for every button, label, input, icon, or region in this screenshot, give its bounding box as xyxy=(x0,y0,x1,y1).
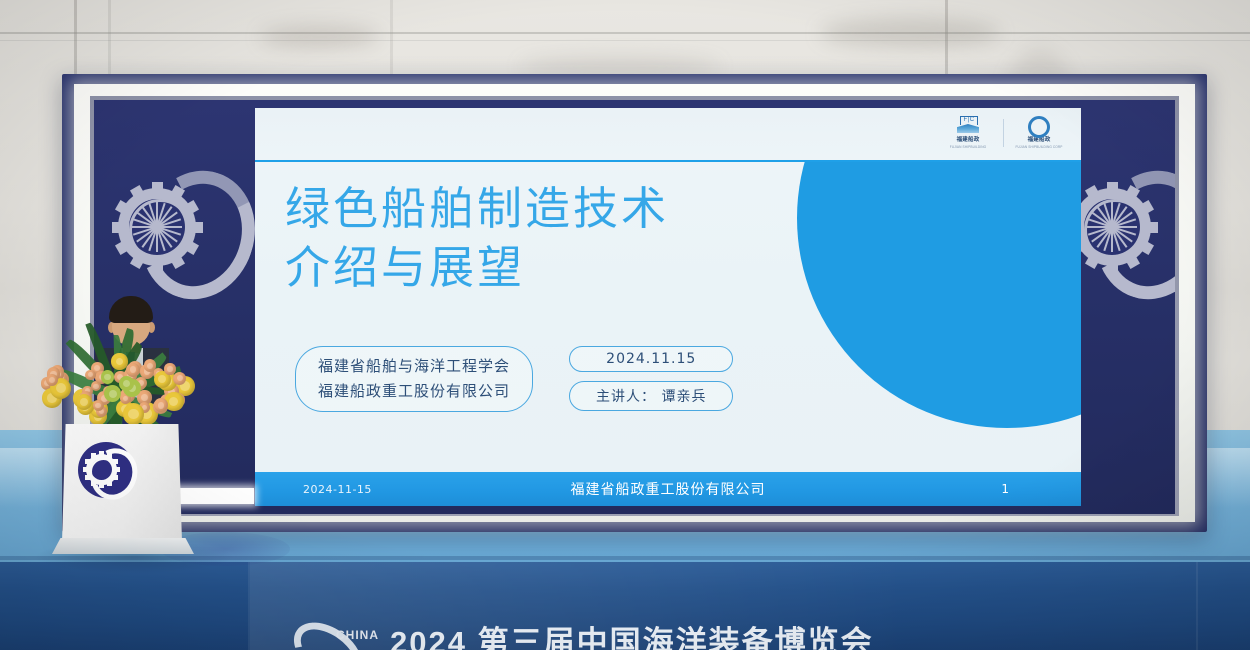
slide-accent-line xyxy=(255,160,1081,162)
banner-title: 2024 第三届中国海洋装备博览会 xyxy=(390,622,874,650)
slide-title-line1: 绿色船舶制造技术 xyxy=(285,180,805,239)
organizer-pill: 福建省船舶与海洋工程学会 福建船政重工股份有限公司 xyxy=(295,346,533,412)
banner-logo-en: CHINA xyxy=(336,628,379,642)
slide-title: 绿色船舶制造技术 介绍与展望 xyxy=(285,180,805,297)
organizer-line1: 福建省船舶与海洋工程学会 xyxy=(318,354,510,379)
logo-fujian-corp: 福建船政 FUJIAN SHIPBUILDING CORP xyxy=(1013,116,1065,149)
gear-globe-emblem xyxy=(1081,166,1175,284)
logo-en-text: FUJIAN SHIPBUILDING CORP xyxy=(1015,145,1062,149)
footer-page-number: 1 xyxy=(1001,482,1009,496)
gear-globe-emblem xyxy=(116,166,234,284)
logo-cn-text: 福建船政 xyxy=(957,135,980,143)
ring-icon xyxy=(1028,116,1050,133)
date-pill: 2024.11.15 xyxy=(569,346,733,372)
led-right-panel xyxy=(1081,100,1175,514)
slide-meta-pills: 福建省船舶与海洋工程学会 福建船政重工股份有限公司 2024.11.15 主讲人… xyxy=(295,346,733,412)
logo-divider xyxy=(1003,119,1004,147)
footer-company: 福建省船政重工股份有限公司 xyxy=(255,479,1081,499)
logo-en-text: FUJIAN SHIPBUILDING xyxy=(950,145,986,149)
organizer-line2: 福建船政重工股份有限公司 xyxy=(318,379,510,404)
conference-photo-scene: CHINA 2024 第三届中国海洋装备博览会 xyxy=(0,0,1250,650)
podium-base xyxy=(52,538,194,554)
slide-footer: 2024-11-15 福建省船政重工股份有限公司 1 xyxy=(255,472,1081,506)
fjc-shield-icon: F|C xyxy=(957,116,979,133)
gear-globe-circle-logo xyxy=(78,442,134,498)
china-expo-logo-icon: CHINA xyxy=(290,624,376,650)
event-banner: CHINA 2024 第三届中国海洋装备博览会 xyxy=(290,622,1190,650)
slide-title-line2: 介绍与展望 xyxy=(285,239,805,298)
slide-logos: F|C 福建船政 FUJIAN SHIPBUILDING 福建船政 FUJIAN… xyxy=(942,116,1065,149)
presentation-slide: F|C 福建船政 FUJIAN SHIPBUILDING 福建船政 FUJIAN… xyxy=(255,108,1081,506)
speaker-pill: 主讲人： 谭亲兵 xyxy=(569,381,733,411)
logo-fujian-shipbuilding: F|C 福建船政 FUJIAN SHIPBUILDING xyxy=(942,116,994,149)
